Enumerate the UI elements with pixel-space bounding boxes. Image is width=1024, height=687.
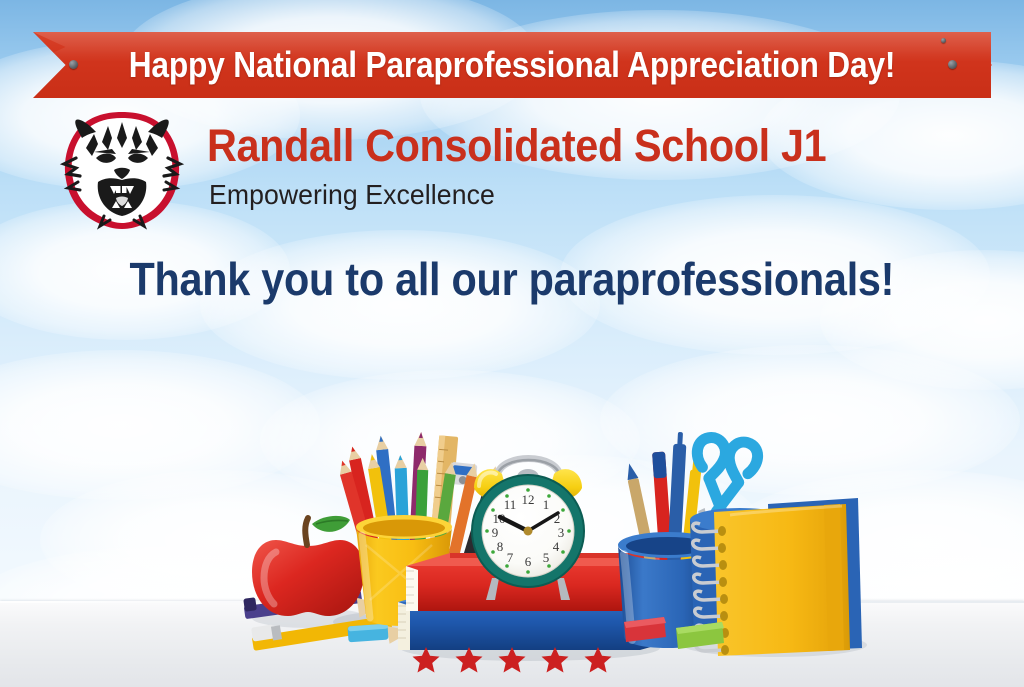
headline-message: Thank you to all our paraprofessionals! [0, 252, 1024, 306]
school-tagline: Empowering Excellence [209, 179, 495, 211]
pin-icon-small [941, 38, 946, 43]
school-identity-header: Randall Consolidated School J1 Empowerin… [52, 104, 992, 232]
desk-edge [0, 601, 1024, 603]
poster-canvas: Happy National Paraprofessional Apprecia… [0, 0, 1024, 687]
desk-surface [0, 601, 1024, 687]
banner-title: Happy National Paraprofessional Apprecia… [90, 32, 933, 98]
school-name: Randall Consolidated School J1 [207, 120, 826, 172]
banner-ribbon: Happy National Paraprofessional Apprecia… [33, 32, 991, 98]
pin-icon-left [69, 60, 78, 69]
headline-text: Thank you to all our paraprofessionals! [130, 252, 895, 306]
pin-icon-right [948, 60, 957, 69]
wildcat-mascot-logo-icon [52, 108, 192, 232]
